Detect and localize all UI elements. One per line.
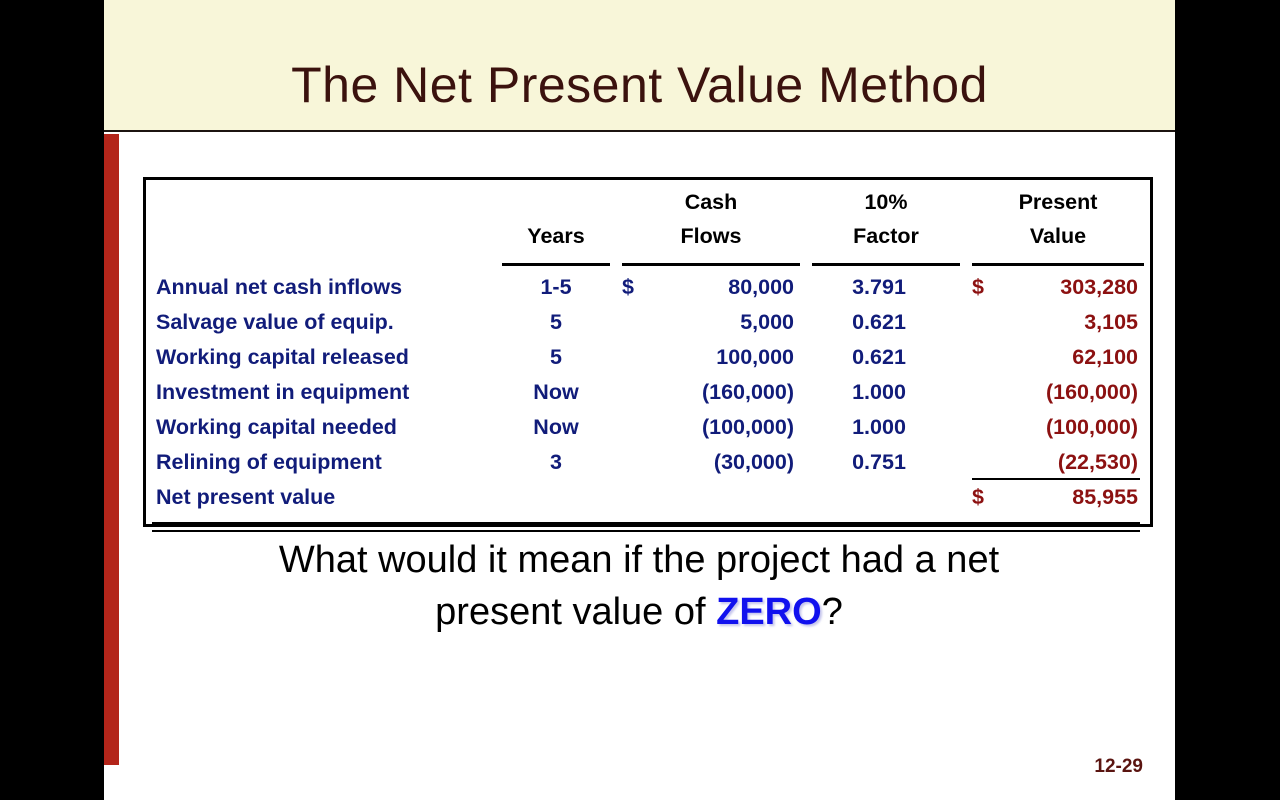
row-factor: 1.000: [806, 375, 966, 410]
column-header-years-rule: [502, 263, 610, 266]
column-header-cash-flows-line1: Cash: [616, 180, 806, 226]
row-factor: 3.791: [806, 270, 966, 305]
row-years: Now: [496, 375, 616, 410]
table-row: Relining of equipment 3 (30,000) 0.751: [146, 445, 1150, 480]
row-factor: 0.621: [806, 305, 966, 340]
slide-number: 12-29: [1094, 756, 1143, 778]
row-cash-flow: (30,000): [616, 445, 806, 480]
row-cash-flow-amount: (30,000): [622, 445, 794, 480]
row-present-value-amount: (100,000): [972, 410, 1138, 445]
row-years: 5: [496, 305, 616, 340]
npv-table-container: Years Cash Flows 10% Factor: [143, 177, 1153, 527]
column-header-factor: 10% Factor: [806, 180, 966, 270]
row-factor: 0.751: [806, 445, 966, 480]
row-label: Working capital needed: [146, 410, 496, 445]
row-present-value-amount: (22,530): [972, 445, 1138, 480]
row-cash-flow-amount: 100,000: [622, 340, 794, 375]
column-header-label-line1: [146, 180, 496, 226]
row-years: Now: [496, 410, 616, 445]
column-header-present-value-rule: [972, 263, 1144, 266]
column-header-cash-flows-line2: Flows: [616, 226, 806, 260]
table-row: Working capital needed Now (100,000) 1.0…: [146, 410, 1150, 445]
column-header-years-line2: Years: [496, 226, 616, 260]
column-header-factor-line1: 10%: [806, 180, 966, 226]
row-cash-flow: 100,000: [616, 340, 806, 375]
column-header-present-value-line2: Value: [966, 226, 1150, 260]
row-present-value: (100,000): [966, 410, 1150, 445]
row-factor: 0.621: [806, 340, 966, 375]
table-header: Years Cash Flows 10% Factor: [146, 180, 1150, 270]
column-header-present-value-line1: Present: [966, 180, 1150, 226]
zero-highlight: ZERO: [716, 591, 822, 633]
left-accent-bar: [104, 134, 119, 765]
title-banner: The Net Present Value Method: [104, 0, 1175, 132]
row-present-value: 3,105: [966, 305, 1150, 340]
question-line-2: present value of ZERO?: [134, 586, 1144, 638]
table-row: Annual net cash inflows 1-5 $ 80,000 3.7…: [146, 270, 1150, 305]
table-row: Investment in equipment Now (160,000) 1.…: [146, 375, 1150, 410]
page-title: The Net Present Value Method: [104, 56, 1175, 114]
table-row: Salvage value of equip. 5 5,000 0.621: [146, 305, 1150, 340]
column-header-label: [146, 180, 496, 270]
column-header-factor-rule: [812, 263, 960, 266]
row-present-value: (22,530): [966, 445, 1150, 480]
row-cash-flow: (160,000): [616, 375, 806, 410]
table-row: Working capital released 5 100,000 0.621: [146, 340, 1150, 375]
total-label: Net present value: [146, 480, 496, 515]
row-present-value-amount: 3,105: [972, 305, 1138, 340]
row-label: Investment in equipment: [146, 375, 496, 410]
column-header-factor-line2: Factor: [806, 226, 966, 260]
row-cash-flow: $ 80,000: [616, 270, 806, 305]
total-present-value-currency: $: [972, 480, 984, 515]
row-cash-flow-amount: 5,000: [622, 305, 794, 340]
question-line-1: What would it mean if the project had a …: [134, 534, 1144, 586]
grand-total-double-rule: [152, 522, 1140, 532]
slide-content-canvas: The Net Present Value Method: [104, 0, 1175, 800]
row-cash-flow-amount: 80,000: [634, 270, 794, 305]
row-cash-flow: 5,000: [616, 305, 806, 340]
row-cash-flow-amount: (100,000): [622, 410, 794, 445]
total-present-value: $ 85,955: [966, 480, 1150, 515]
column-header-years-line1: [496, 180, 616, 226]
column-header-label-line2: [146, 226, 496, 260]
column-header-present-value: Present Value: [966, 180, 1150, 270]
npv-table: Years Cash Flows 10% Factor: [146, 180, 1150, 515]
table-body: Annual net cash inflows 1-5 $ 80,000 3.7…: [146, 270, 1150, 515]
row-present-value: $ 303,280: [966, 270, 1150, 305]
row-present-value-amount: 62,100: [972, 340, 1138, 375]
question-text: What would it mean if the project had a …: [134, 534, 1144, 638]
row-years: 5: [496, 340, 616, 375]
total-factor: [806, 480, 966, 515]
row-label: Relining of equipment: [146, 445, 496, 480]
row-years: 1-5: [496, 270, 616, 305]
row-present-value: 62,100: [966, 340, 1150, 375]
row-present-value: (160,000): [966, 375, 1150, 410]
total-cash-flow: [616, 480, 806, 515]
total-present-value-amount: 85,955: [984, 480, 1138, 515]
question-line-2-prefix: present value of: [435, 591, 716, 633]
row-cash-flow-currency: $: [622, 270, 634, 305]
column-header-cash-flows: Cash Flows: [616, 180, 806, 270]
row-factor: 1.000: [806, 410, 966, 445]
row-present-value-currency: $: [972, 270, 984, 305]
row-cash-flow: (100,000): [616, 410, 806, 445]
question-line-2-suffix: ?: [822, 591, 843, 633]
column-header-label-rule: [152, 263, 490, 266]
row-years: 3: [496, 445, 616, 480]
row-label: Salvage value of equip.: [146, 305, 496, 340]
slide-root: The Net Present Value Method: [0, 0, 1280, 800]
row-present-value-amount: 303,280: [984, 270, 1138, 305]
total-years: [496, 480, 616, 515]
row-present-value-amount: (160,000): [972, 375, 1138, 410]
column-header-cash-flows-rule: [622, 263, 800, 266]
row-cash-flow-amount: (160,000): [622, 375, 794, 410]
row-label: Working capital released: [146, 340, 496, 375]
table-row-total: Net present value $ 85,9: [146, 480, 1150, 515]
row-label: Annual net cash inflows: [146, 270, 496, 305]
column-header-years: Years: [496, 180, 616, 270]
